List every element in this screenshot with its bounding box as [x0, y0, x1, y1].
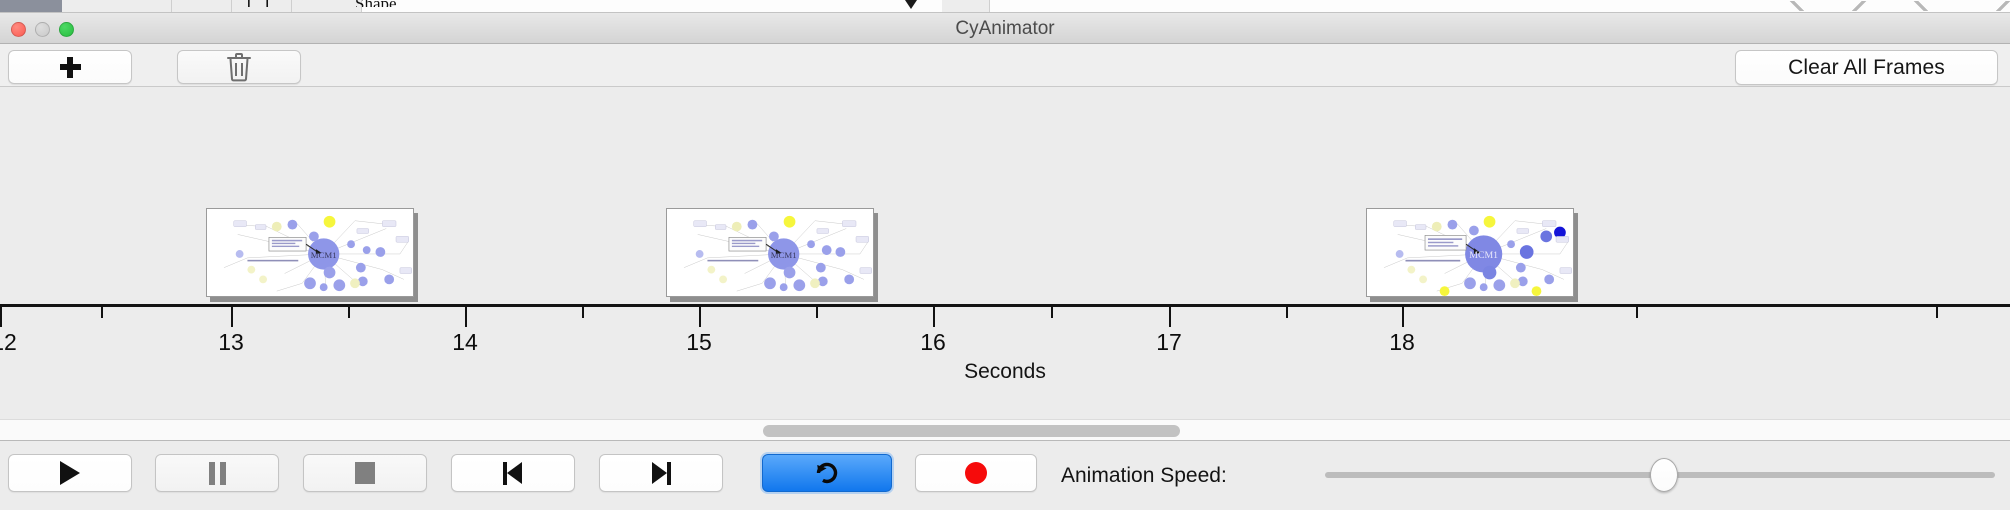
- frame-thumbnail: MCM1: [1366, 208, 1574, 297]
- loop-button[interactable]: [762, 454, 892, 492]
- trash-icon: [226, 52, 252, 82]
- svg-text:MCM1: MCM1: [1469, 250, 1498, 261]
- axis-tick-label: 15: [686, 329, 712, 356]
- stop-icon: [355, 462, 375, 484]
- play-icon: [60, 461, 80, 485]
- axis-tick-major: [231, 307, 233, 327]
- background-label-partial: I I: [246, 0, 270, 7]
- play-button[interactable]: [8, 454, 132, 492]
- axis-tick-minor: [582, 307, 584, 318]
- axis-tick-label: 16: [920, 329, 946, 356]
- network-graph-icon: MCM1: [1367, 209, 1573, 296]
- pause-button[interactable]: [155, 454, 279, 492]
- timeline-scrollbar[interactable]: [0, 419, 2010, 441]
- clear-all-frames-button[interactable]: Clear All Frames: [1735, 50, 1998, 85]
- plus-icon: [60, 57, 81, 78]
- animation-speed-slider[interactable]: [1325, 472, 1995, 478]
- background-slash-icon: [1788, 1, 1804, 11]
- axis-tick-major: [0, 307, 2, 327]
- stop-button[interactable]: [303, 454, 427, 492]
- axis-tick-minor: [1051, 307, 1053, 318]
- frame-toolbar: Clear All Frames: [0, 44, 2010, 87]
- axis-tick-minor: [1636, 307, 1638, 318]
- svg-text:MCM1: MCM1: [771, 250, 797, 260]
- axis-tick-minor: [101, 307, 103, 318]
- timeline-panel[interactable]: MCM1: [0, 88, 2010, 418]
- animation-speed-label: Animation Speed:: [1061, 464, 1227, 488]
- cyanimator-window: I I Shape CyAnimator C: [0, 0, 2010, 510]
- skip-to-end-icon: [651, 462, 671, 485]
- network-graph-icon: MCM1: [667, 209, 873, 296]
- background-window-title-partial: Shape: [355, 0, 397, 7]
- axis-tick-major: [933, 307, 935, 327]
- timeline-frame[interactable]: MCM1: [1366, 208, 1578, 300]
- delete-frame-button[interactable]: [177, 50, 301, 84]
- window-title: CyAnimator: [0, 13, 2010, 44]
- axis-tick-label: 12: [0, 329, 17, 356]
- pause-icon: [209, 462, 226, 485]
- axis-tick-minor: [348, 307, 350, 318]
- loop-icon: [814, 460, 840, 486]
- axis-tick-major: [1169, 307, 1171, 327]
- frame-thumbnail: MCM1: [206, 208, 414, 297]
- slider-thumb[interactable]: [1650, 458, 1678, 492]
- background-slash-icon: [1852, 1, 1868, 11]
- background-slash-icon: [1912, 1, 1928, 11]
- svg-text:MCM1: MCM1: [311, 250, 337, 260]
- background-slash-icon: [1996, 1, 2010, 11]
- record-button[interactable]: [915, 454, 1037, 492]
- axis-tick-label: 14: [452, 329, 478, 356]
- scrollbar-thumb[interactable]: [763, 425, 1180, 437]
- axis-tick-minor: [1286, 307, 1288, 318]
- background-titlebar-chip: [0, 0, 62, 12]
- skip-to-start-icon: [503, 462, 523, 485]
- skip-to-end-button[interactable]: [599, 454, 723, 492]
- timeline-axis-line: [0, 304, 2010, 307]
- axis-tick-label: 18: [1389, 329, 1415, 356]
- axis-tick-label: 17: [1156, 329, 1182, 356]
- axis-tick-minor: [816, 307, 818, 318]
- axis-tick-major: [699, 307, 701, 327]
- axis-tick-major: [1402, 307, 1404, 327]
- add-frame-button[interactable]: [8, 50, 132, 84]
- network-graph-icon: MCM1: [207, 209, 413, 296]
- frame-thumbnail: MCM1: [666, 208, 874, 297]
- timeline-frame[interactable]: MCM1: [206, 208, 418, 300]
- window-titlebar: CyAnimator: [0, 13, 2010, 44]
- timeline-frame[interactable]: MCM1: [666, 208, 878, 300]
- playback-control-bar: Animation Speed:: [0, 442, 2010, 510]
- axis-tick-major: [465, 307, 467, 327]
- axis-tick-minor: [1936, 307, 1938, 318]
- record-icon: [965, 462, 987, 484]
- axis-tick-label: 13: [218, 329, 244, 356]
- background-notch-icon: [905, 0, 917, 9]
- axis-title: Seconds: [0, 360, 2010, 384]
- skip-to-start-button[interactable]: [451, 454, 575, 492]
